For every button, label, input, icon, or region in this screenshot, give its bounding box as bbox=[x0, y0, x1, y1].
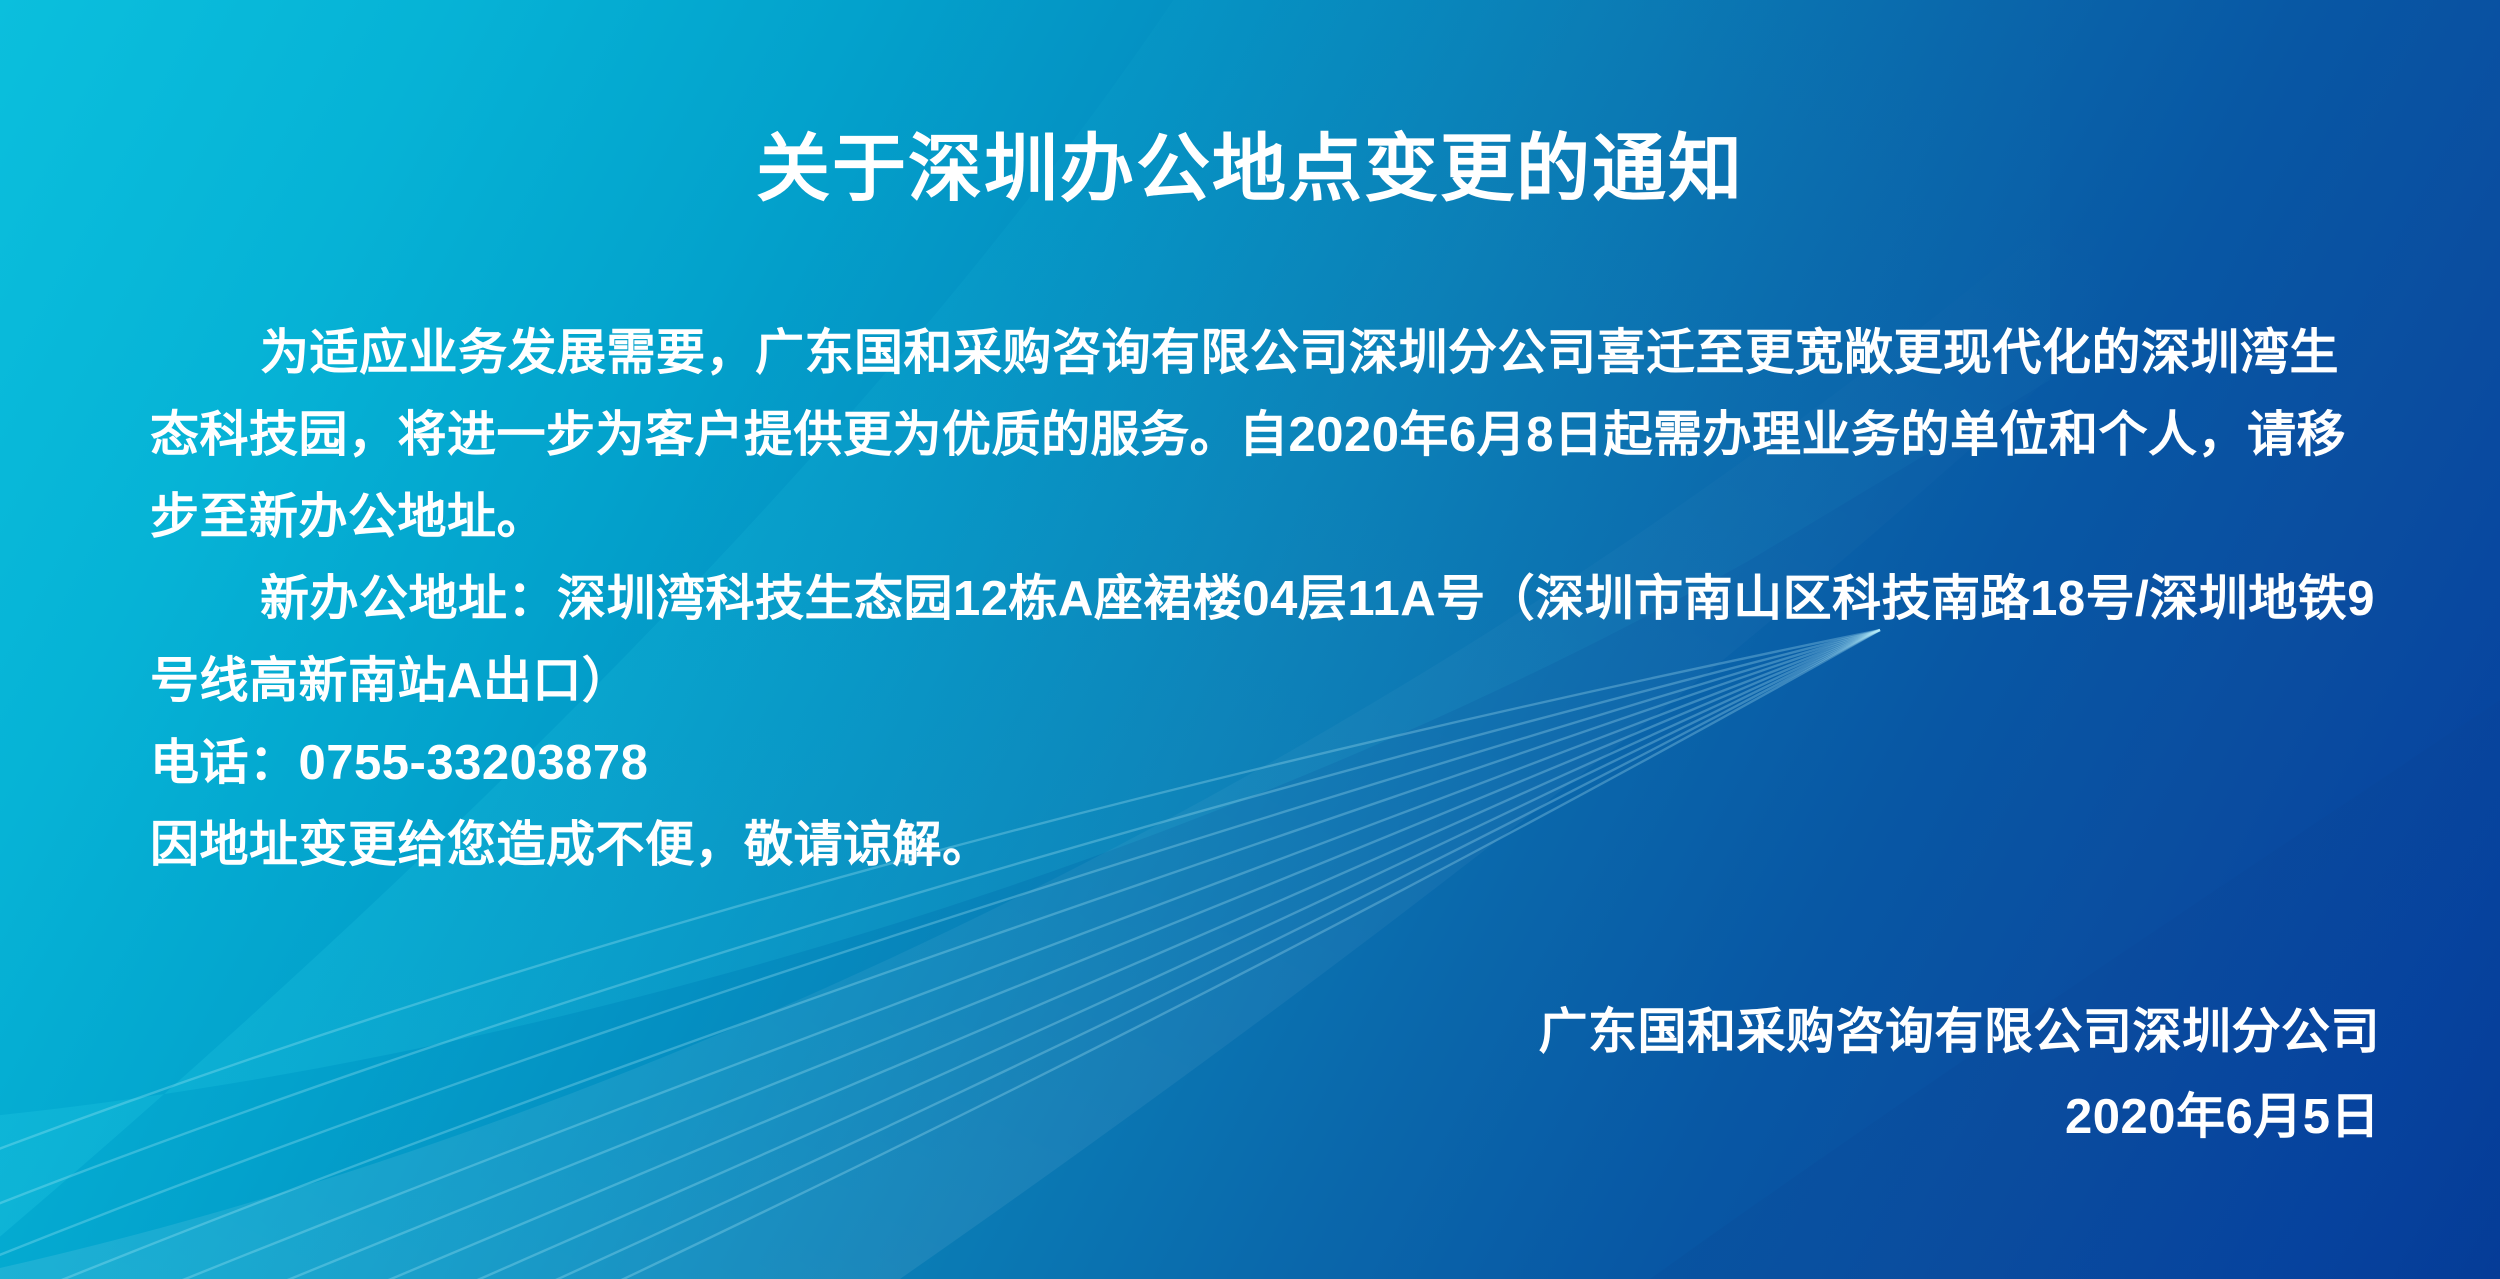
signature-date: 2020年6月5日 bbox=[0, 1075, 2380, 1160]
paragraph-intro: 为适应业务发展需要，广东国和采购咨询有限公司深圳分公司喜迁至更宽敞更现代化的深圳… bbox=[150, 312, 2380, 558]
page-title: 关于深圳办公地点变更的通知 bbox=[0, 128, 2500, 209]
signature-block: 广东国和采购咨询有限公司深圳分公司 2020年6月5日 bbox=[0, 990, 2380, 1160]
paragraph-new-address: 新办公地址：深圳湾科技生态园12栋A座裙楼04层11A号（深圳市南山区科技南路1… bbox=[150, 558, 2380, 722]
signature-company: 广东国和采购咨询有限公司深圳分公司 bbox=[0, 990, 2380, 1075]
notice-poster: 关于深圳办公地点变更的通知 为适应业务发展需要，广东国和采购咨询有限公司深圳分公… bbox=[0, 0, 2500, 1279]
paragraph-telephone: 电话：0755-33203878 bbox=[150, 722, 2380, 804]
paragraph-apology: 因地址变更给您造成不便，敬请谅解。 bbox=[150, 804, 2380, 886]
notice-body: 为适应业务发展需要，广东国和采购咨询有限公司深圳分公司喜迁至更宽敞更现代化的深圳… bbox=[150, 312, 2380, 886]
